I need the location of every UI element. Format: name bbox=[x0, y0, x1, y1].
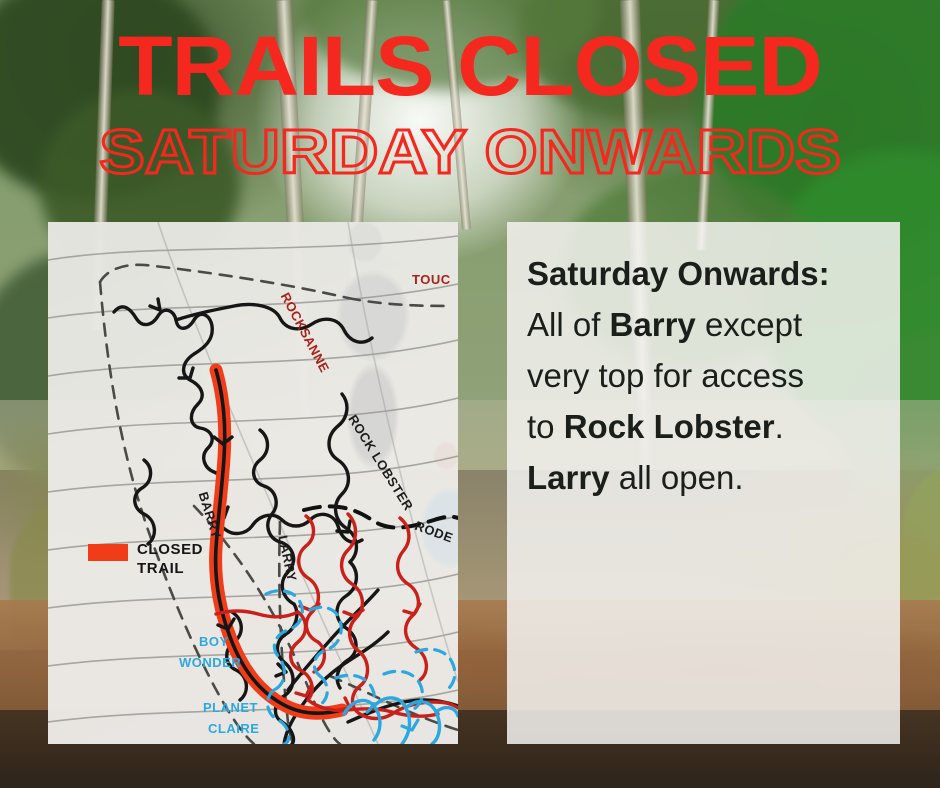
legend-line-1: CLOSED bbox=[137, 540, 203, 559]
map-label-boy: BOY bbox=[199, 634, 229, 649]
info-l2-p1: very top for access bbox=[527, 357, 804, 394]
info-l3-p3: . bbox=[775, 408, 784, 445]
info-panel-body: Saturday Onwards: All of Barry except ve… bbox=[507, 222, 900, 503]
map-label-planet: PLANET bbox=[203, 700, 258, 715]
info-line-3: to Rock Lobster. bbox=[527, 401, 882, 452]
map-label-touc: TOUC bbox=[412, 272, 451, 287]
poster-canvas: TRAILS CLOSED SATURDAY ONWARDS bbox=[0, 0, 940, 788]
info-l4-larry: Larry bbox=[527, 459, 610, 496]
map-label-claire: CLAIRE bbox=[208, 721, 259, 736]
info-heading: Saturday Onwards: bbox=[527, 248, 882, 299]
legend-closed-text: CLOSED TRAIL bbox=[137, 540, 203, 578]
legend-line-2: TRAIL bbox=[137, 559, 203, 578]
info-l1-p3: except bbox=[696, 306, 802, 343]
map-label-wonder: WONDER bbox=[179, 655, 241, 670]
info-l4-p2: all open. bbox=[610, 459, 744, 496]
map-legend: CLOSED TRAIL bbox=[88, 540, 203, 578]
info-l3-p1: to bbox=[527, 408, 564, 445]
info-panel: Saturday Onwards: All of Barry except ve… bbox=[507, 222, 900, 744]
info-line-4: Larry all open. bbox=[527, 452, 882, 503]
info-l1-p1: All of bbox=[527, 306, 610, 343]
page-subtitle: SATURDAY ONWARDS bbox=[0, 122, 940, 184]
info-l1-barry: Barry bbox=[610, 306, 696, 343]
page-title: TRAILS CLOSED bbox=[0, 24, 940, 108]
info-l3-rock-lobster: Rock Lobster bbox=[564, 408, 775, 445]
info-line-1: All of Barry except bbox=[527, 299, 882, 350]
trail-map-panel[interactable]: TOUC ROCKSANNE ROCK LOBSTER RODE BARRY L… bbox=[48, 222, 458, 744]
legend-closed-swatch bbox=[88, 544, 128, 561]
info-line-2: very top for access bbox=[527, 350, 882, 401]
